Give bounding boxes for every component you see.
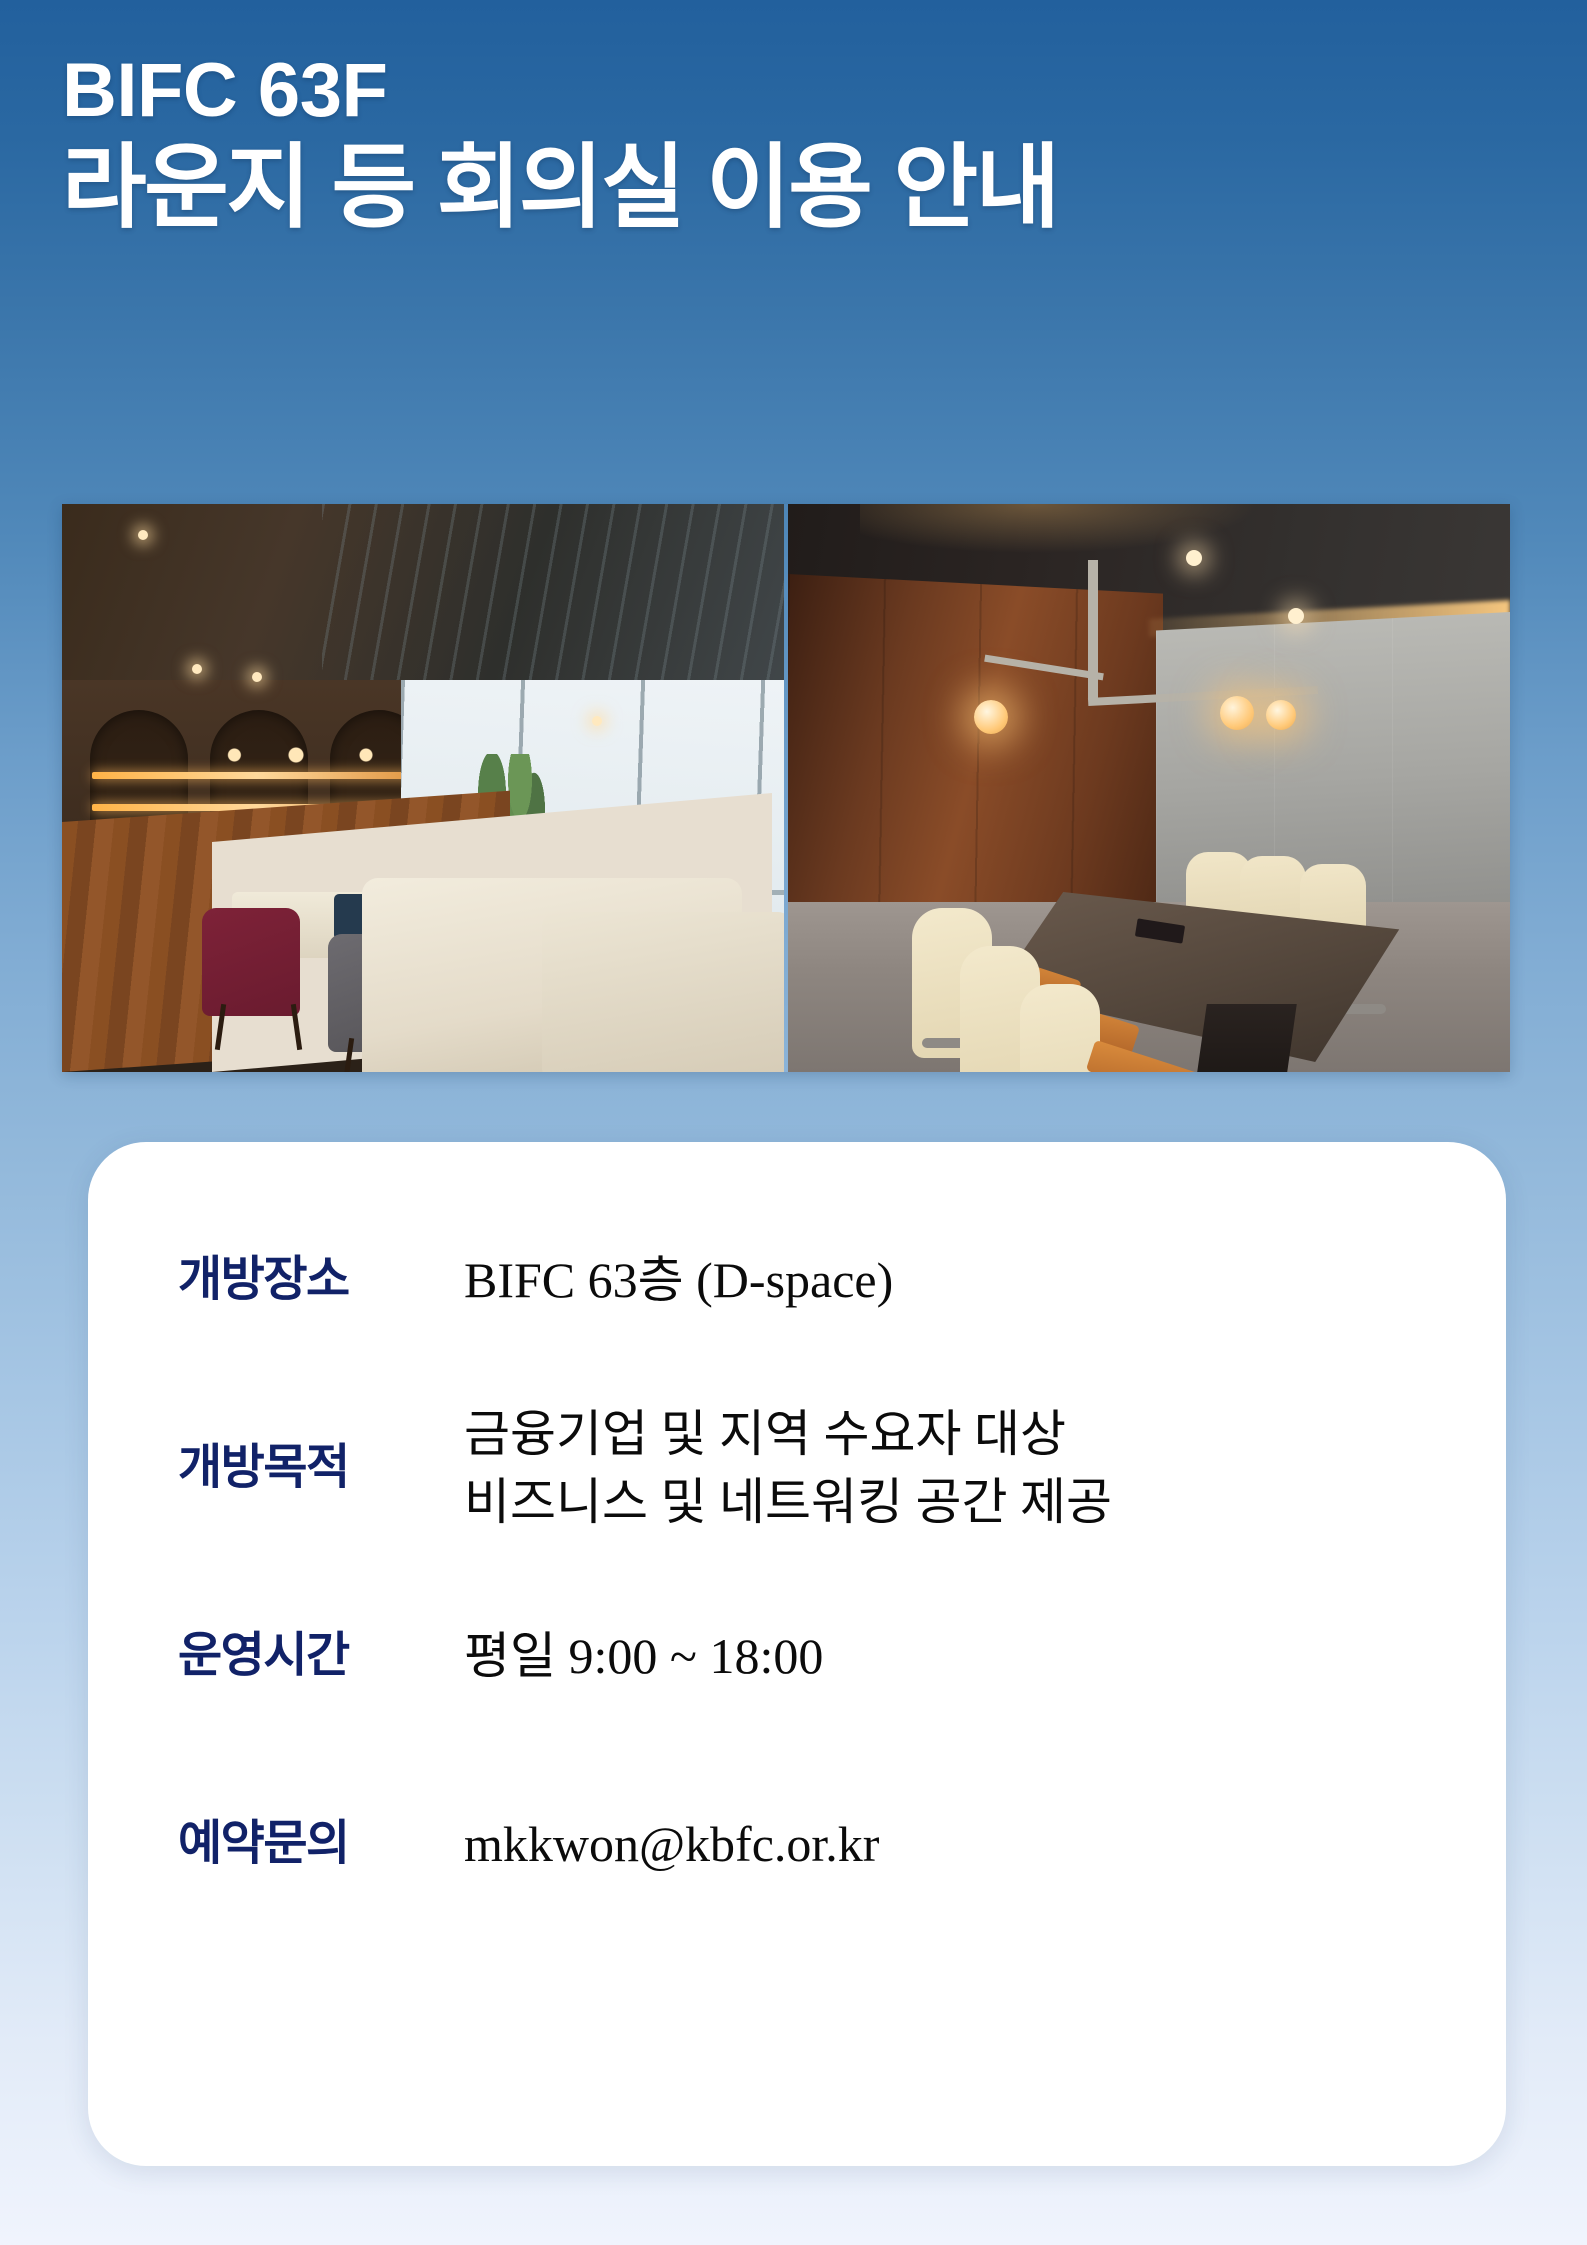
info-row-place: 개방장소 BIFC 63층 (D-space) — [178, 1246, 1436, 1314]
title-line-1: BIFC 63F — [62, 48, 1532, 133]
info-label-contact: 예약문의 — [178, 1815, 448, 1873]
info-rows: 개방장소 BIFC 63층 (D-space) 개방목적 금융기업 및 지역 수… — [88, 1142, 1506, 2166]
info-row-purpose: 개방목적 금융기업 및 지역 수요자 대상 비즈니스 및 네트워킹 공간 제공 — [178, 1400, 1436, 1536]
lounge-armchair — [202, 908, 300, 1016]
meeting-downlight — [1186, 550, 1202, 566]
meeting-downlight — [1288, 608, 1304, 624]
lounge-ceiling-light — [192, 664, 202, 674]
info-row-contact: 예약문의 mkkwon@kbfc.or.kr — [178, 1810, 1436, 1878]
lounge-ceiling-light — [592, 716, 602, 726]
meeting-pendant-bulb — [1266, 700, 1296, 730]
info-label-place: 개방장소 — [178, 1251, 448, 1309]
lounge-ceiling-light — [252, 672, 262, 682]
meeting-table-base — [1189, 1004, 1297, 1072]
title-line-2: 라운지 등 회의실 이용 안내 — [62, 137, 1532, 240]
lounge-ceiling-light — [138, 530, 148, 540]
info-value-purpose-line-1: 금융기업 및 지역 수요자 대상 — [464, 1400, 1436, 1468]
info-value-purpose: 금융기업 및 지역 수요자 대상 비즈니스 및 네트워킹 공간 제공 — [448, 1400, 1436, 1536]
info-label-hours: 운영시간 — [178, 1627, 448, 1685]
info-value-hours-line-1: 평일 9:00 ~ 18:00 — [464, 1622, 1436, 1690]
lounge-sofa — [542, 912, 784, 1072]
info-value-place: BIFC 63층 (D-space) — [448, 1246, 1436, 1314]
meeting-chair — [1020, 984, 1100, 1072]
meeting-pendant-bulb — [1220, 696, 1254, 730]
meeting-wood-wall — [788, 574, 1163, 942]
lounge-ceiling — [62, 504, 784, 704]
info-label-purpose: 개방목적 — [178, 1439, 448, 1497]
meeting-room-photo — [788, 504, 1510, 1072]
photo-band — [62, 504, 1510, 1072]
info-value-place-line-1: BIFC 63층 (D-space) — [464, 1246, 1436, 1314]
contact-email[interactable]: mkkwon@kbfc.or.kr — [464, 1810, 1436, 1878]
page-title: BIFC 63F 라운지 등 회의실 이용 안내 — [62, 48, 1532, 240]
meeting-pendant-bulb — [974, 700, 1008, 734]
lounge-photo — [62, 504, 784, 1072]
info-value-purpose-line-2: 비즈니스 및 네트워킹 공간 제공 — [464, 1468, 1436, 1536]
info-value-hours: 평일 9:00 ~ 18:00 — [448, 1622, 1436, 1690]
info-value-contact: mkkwon@kbfc.or.kr — [448, 1810, 1436, 1878]
info-card: 개방장소 BIFC 63층 (D-space) 개방목적 금융기업 및 지역 수… — [88, 1142, 1506, 2166]
lounge-lit-shelf — [92, 772, 422, 779]
info-row-hours: 운영시간 평일 9:00 ~ 18:00 — [178, 1622, 1436, 1690]
